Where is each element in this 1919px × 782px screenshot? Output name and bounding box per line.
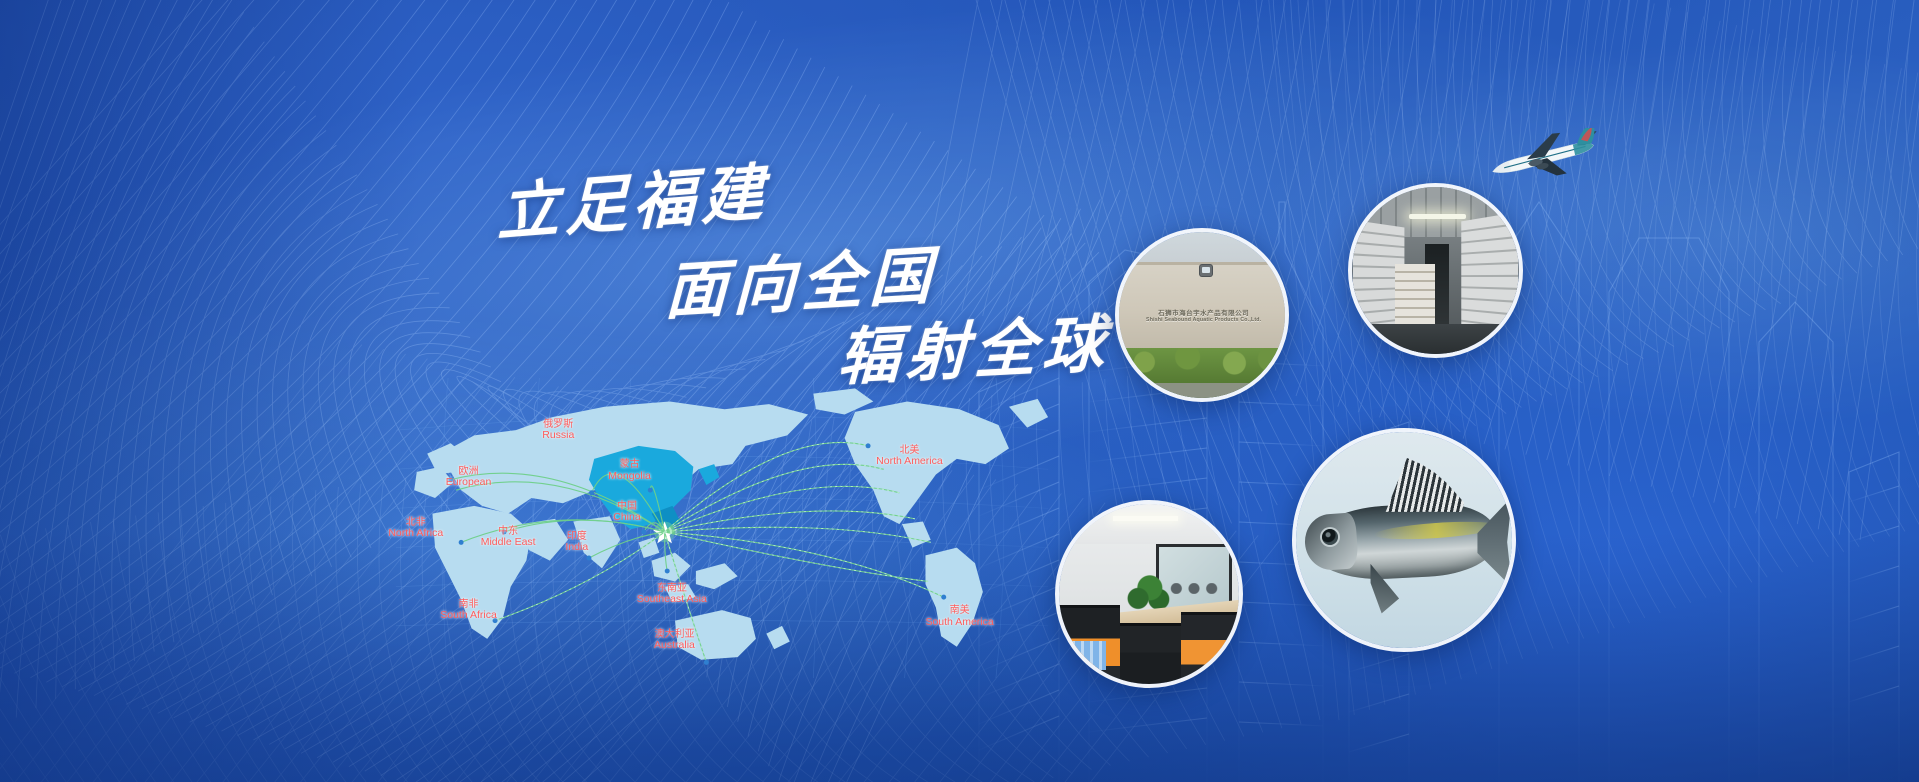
office-file-binders: [1066, 641, 1106, 670]
warehouse-floor: [1352, 324, 1519, 354]
wall-lamp-icon: [1200, 265, 1212, 276]
map-endpoint-dot: [459, 540, 464, 545]
company-sign-cn: 石狮市海台宇水产品有限公司: [1158, 307, 1249, 317]
company-sign: 石狮市海台宇水产品有限公司 Shishi Seabound Aquatic Pr…: [1129, 302, 1278, 329]
office-cubicle-center: [1120, 623, 1181, 684]
map-endpoint-dot: [586, 556, 591, 561]
photo-tuna-fish[interactable]: [1292, 428, 1516, 652]
ceiling-light-icon: [1409, 214, 1466, 219]
world-distribution-map: 俄罗斯Russia蒙古Mongolia中国China欧洲European北非No…: [392, 378, 1052, 678]
map-endpoint-dot: [704, 660, 709, 665]
map-endpoint-dot: [941, 595, 946, 600]
map-endpoint-dot: [493, 618, 498, 623]
map-endpoint-dot: [665, 569, 670, 574]
office-ceiling: [1059, 504, 1239, 544]
pallet-stack-right: [1461, 212, 1518, 342]
airplane-icon: [1483, 128, 1603, 188]
map-endpoint-dot: [866, 443, 871, 448]
map-endpoint-dot: [648, 488, 653, 493]
hero-banner: 立足福建 面向全国 辐射全球: [0, 0, 1919, 782]
pallet-stack-center: [1395, 264, 1435, 327]
world-map-svg: [392, 378, 1052, 678]
photo-office-workspace[interactable]: [1055, 500, 1243, 688]
headline-line-1: 立足福建: [497, 141, 770, 253]
map-endpoint-dot: [448, 477, 453, 482]
office-cubicle-right: [1181, 612, 1242, 684]
map-endpoint-dot: [641, 529, 646, 534]
photo-factory-gate[interactable]: 石狮市海台宇水产品有限公司 Shishi Seabound Aquatic Pr…: [1115, 228, 1289, 402]
headline-line-2: 面向全国: [664, 225, 939, 332]
factory-ground: [1119, 383, 1285, 398]
photo-cold-storage-warehouse[interactable]: [1348, 183, 1523, 358]
left-vignette: [0, 0, 422, 782]
map-endpoint-dot: [589, 490, 594, 495]
map-endpoint-dot: [502, 529, 507, 534]
fish-eye: [1322, 529, 1338, 545]
company-sign-en: Shishi Seabound Aquatic Products Co.,Ltd…: [1146, 317, 1261, 323]
headline-block: 立足福建 面向全国 辐射全球: [0, 0, 1100, 360]
